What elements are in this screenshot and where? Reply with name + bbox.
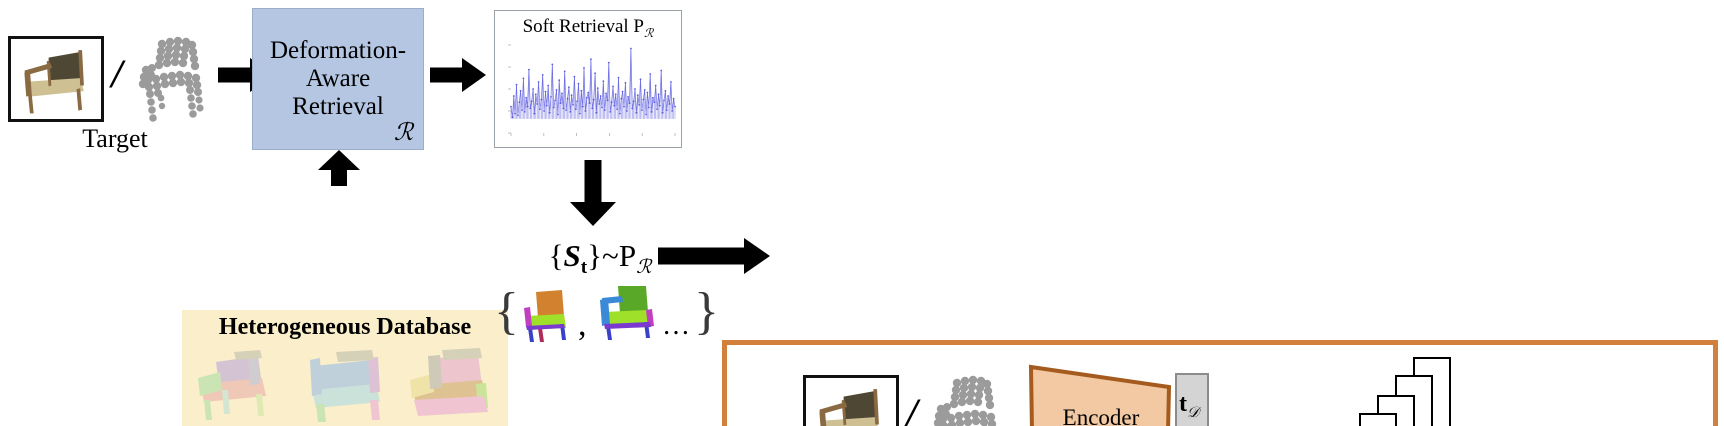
- arrow-plot-to-sample: [570, 160, 616, 226]
- sampled-source-set: { , …: [494, 284, 704, 346]
- target-pointcloud-chair: [128, 30, 214, 126]
- set-comma: ,: [578, 306, 587, 344]
- encoder-line1: Encoder: [1027, 405, 1175, 426]
- soft-retrieval-plot: Soft Retrieval Pℛ: [494, 10, 682, 148]
- sample-set-close: }: [587, 238, 602, 273]
- encoder-label: Encoder E𝒟: [1027, 405, 1175, 426]
- target-caption-left: Target: [40, 124, 190, 154]
- ns-box-front: x, y, z, sx, sy, sz: [1359, 413, 1397, 426]
- sample-s: S: [563, 238, 580, 273]
- latent-label-t: t𝒟: [1179, 391, 1199, 422]
- set-brace-close: }: [694, 286, 719, 338]
- latent-t-sub: 𝒟: [1187, 405, 1199, 421]
- sample-p-sub: ℛ: [636, 257, 651, 278]
- sample-tilde: ~: [602, 238, 619, 273]
- ns-stack: x, y, z, sx, sy, sz ··· Ns: [1357, 357, 1477, 426]
- database-item: [186, 344, 292, 426]
- target-slash: /: [106, 50, 128, 97]
- figure-canvas: /: [0, 0, 1724, 426]
- panel-target-slash: /: [901, 389, 923, 426]
- database-item: [398, 344, 504, 426]
- retrieval-line1: Deformation-: [270, 37, 406, 65]
- arrow-database-to-retrieval: [318, 150, 360, 186]
- heterogeneous-database-panel: Heterogeneous Database: [182, 310, 508, 426]
- retrieval-line2: Aware: [306, 65, 370, 93]
- set-brace-open: {: [494, 286, 519, 338]
- panel-target-photo-chair: [806, 378, 896, 426]
- plot-svg: [495, 11, 682, 148]
- sample-set-open: {: [549, 238, 564, 273]
- encoder-block: Encoder E𝒟: [1027, 363, 1175, 426]
- structure-aware-neural-deformation-panel: /: [722, 340, 1718, 426]
- panel-target-photo-frame: [803, 375, 899, 426]
- arrow-retrieval-to-plot: [430, 58, 486, 92]
- retrieval-symbol: ℛ: [394, 120, 413, 147]
- latent-t: t: [1179, 391, 1187, 417]
- database-title: Heterogeneous Database: [182, 314, 508, 341]
- arrow-sample-to-panel: [658, 238, 770, 274]
- target-photo-frame: [8, 36, 104, 122]
- target-photo-chair: [11, 39, 101, 119]
- deformation-aware-retrieval-box: Deformation- Aware Retrieval ℛ: [252, 8, 424, 150]
- retrieval-line3: Retrieval: [292, 93, 384, 121]
- sample-p: P: [619, 238, 636, 273]
- set-ellipsis: …: [662, 310, 692, 342]
- database-item: [292, 344, 398, 426]
- database-grid: [186, 344, 504, 426]
- sampled-chair: [518, 288, 576, 349]
- sampled-chair: [592, 284, 658, 347]
- panel-target-pointcloud-chair: [923, 369, 1009, 426]
